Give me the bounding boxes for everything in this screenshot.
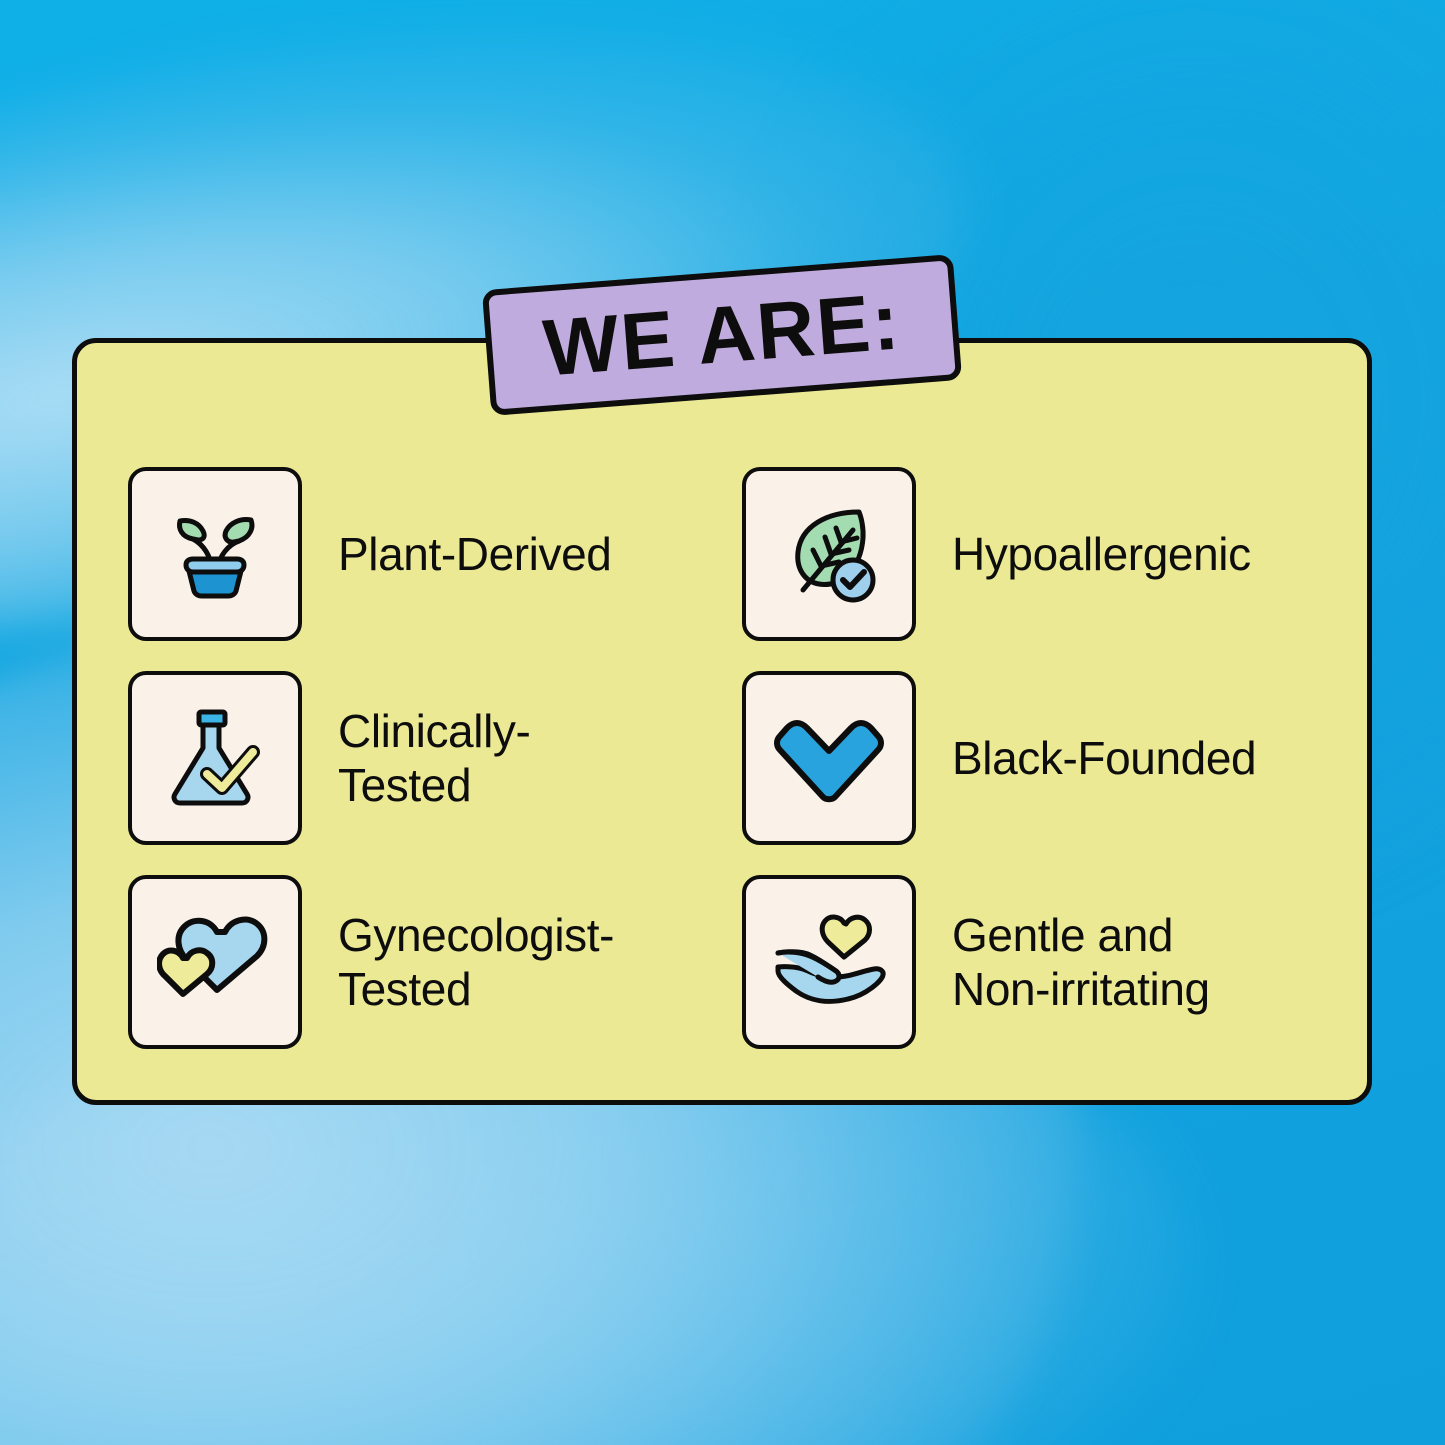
leaf-check-icon xyxy=(742,467,916,641)
feature-label: Plant-Derived xyxy=(338,527,611,581)
promo-graphic: WE ARE: Plant-Derived xyxy=(0,0,1445,1445)
feature-label: Gynecologist- Tested xyxy=(338,908,614,1017)
feature-item: Gentle and Non-irritating xyxy=(742,860,1348,1064)
potted-plant-icon xyxy=(128,467,302,641)
feature-item: Clinically- Tested xyxy=(128,656,742,860)
feature-item: Hypoallergenic xyxy=(742,452,1348,656)
page-title: WE ARE: xyxy=(541,281,904,388)
feature-label: Gentle and Non-irritating xyxy=(952,908,1210,1017)
feature-label: Hypoallergenic xyxy=(952,527,1251,581)
heart-icon xyxy=(742,671,916,845)
feature-label: Black-Founded xyxy=(952,731,1256,785)
flask-check-icon xyxy=(128,671,302,845)
feature-label: Clinically- Tested xyxy=(338,704,530,813)
feature-item: Black-Founded xyxy=(742,656,1348,860)
feature-item: Plant-Derived xyxy=(128,452,742,656)
two-hearts-icon xyxy=(128,875,302,1049)
hand-heart-icon xyxy=(742,875,916,1049)
features-grid: Plant-Derived xyxy=(128,452,1348,1064)
feature-item: Gynecologist- Tested xyxy=(128,860,742,1064)
